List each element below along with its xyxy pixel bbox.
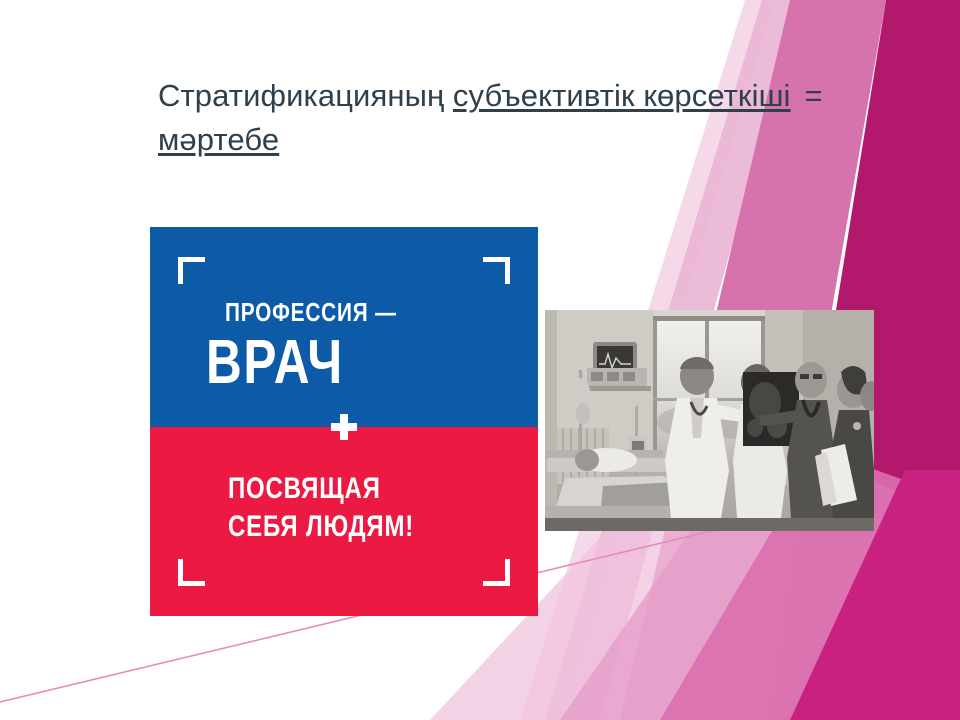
presentation-slide: Стратификацияның субъективтік көрсеткіші… <box>0 0 960 720</box>
poster-line-profession: ПРОФЕССИЯ — <box>225 297 397 328</box>
poster-line-posvyashchaya: ПОСВЯЩАЯ СЕБЯ ЛЮДЯМ! <box>228 470 414 547</box>
medical-cross-icon <box>331 414 357 440</box>
title-equals-sign: = <box>791 78 823 113</box>
page-title: Стратификацияның субъективтік көрсеткіші… <box>158 74 948 162</box>
corner-bracket-top-left-icon <box>178 257 205 284</box>
title-underlined-part-1: субъективтік көрсеткіші <box>453 78 791 113</box>
poster-posv-word-2: СЕБЯ ЛЮДЯМ! <box>228 510 414 543</box>
poster-line-vrach: ВРАЧ <box>206 327 344 398</box>
corner-bracket-bottom-right-icon <box>483 559 510 586</box>
corner-bracket-bottom-left-icon <box>178 559 205 586</box>
corner-bracket-top-right-icon <box>483 257 510 284</box>
hospital-doctors-xray-photo <box>545 310 874 531</box>
title-underlined-part-2: мәртебе <box>158 122 279 157</box>
title-plain-part: Стратификацияның <box>158 78 453 113</box>
professiya-vrach-poster: ПРОФЕССИЯ — ВРАЧ ПОСВЯЩАЯ СЕБЯ ЛЮДЯМ! <box>150 227 538 616</box>
poster-posv-word-1: ПОСВЯЩАЯ <box>228 472 381 505</box>
